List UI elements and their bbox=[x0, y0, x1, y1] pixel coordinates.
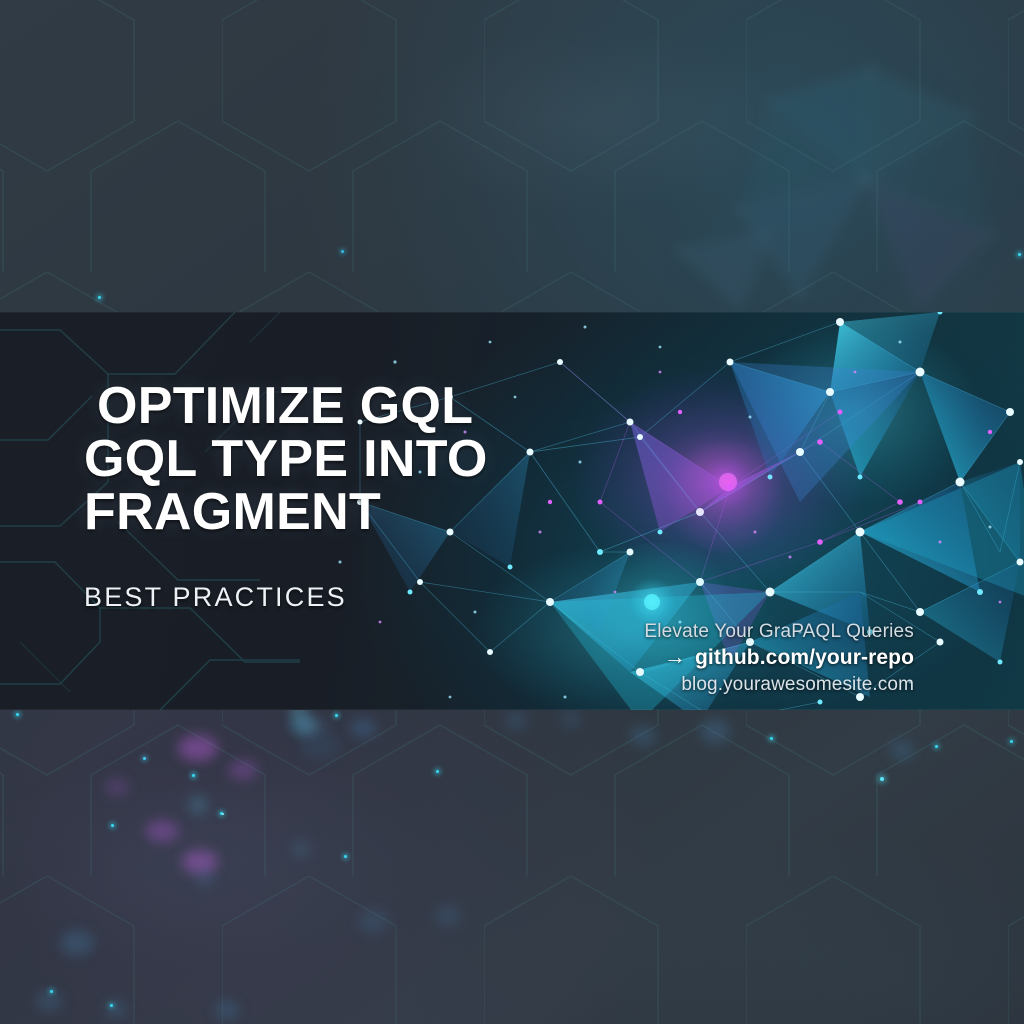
banner-top-hairline bbox=[0, 312, 1024, 313]
site-link[interactable]: blog.yourawesomesite.com bbox=[0, 672, 914, 698]
arrow-right-icon: → bbox=[664, 646, 686, 668]
banner-glow-magenta bbox=[660, 442, 790, 552]
headline-line-1: OPTIMIZE GQL bbox=[84, 380, 644, 433]
banner-bottom-hairline bbox=[0, 709, 1024, 710]
page-title: OPTIMIZE GQL GQL TYPE INTO FRAGMENT bbox=[84, 380, 644, 539]
cta-block: Elevate Your GraPAQL Queries → github.co… bbox=[0, 620, 914, 698]
repo-link-label: github.com/your-repo bbox=[695, 644, 914, 672]
subheading: BEST PRACTICES bbox=[84, 582, 347, 613]
headline-line-2: GQL TYPE INTO bbox=[84, 433, 644, 486]
headline-line-3: FRAGMENT bbox=[84, 486, 644, 539]
cta-tagline: Elevate Your GraPAQL Queries bbox=[0, 620, 914, 644]
banner-canvas: OPTIMIZE GQL GQL TYPE INTO FRAGMENT BEST… bbox=[0, 0, 1024, 1024]
repo-link[interactable]: → github.com/your-repo bbox=[0, 644, 914, 672]
